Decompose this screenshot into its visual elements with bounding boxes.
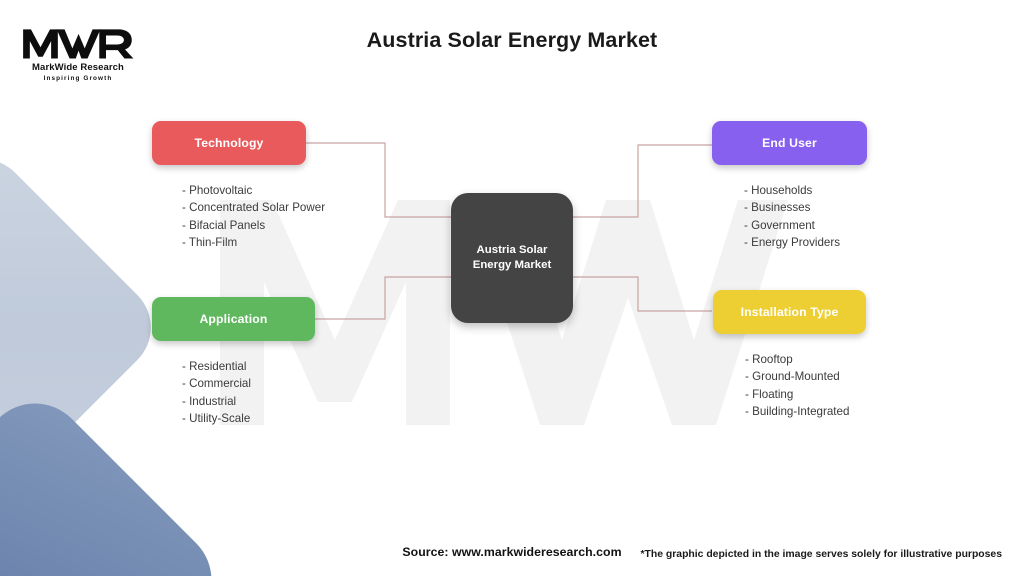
list-item: - Photovoltaic	[182, 182, 325, 199]
list-item: - Residential	[182, 358, 315, 375]
list-item: - Utility-Scale	[182, 410, 315, 427]
segment-application-items: - Residential - Commercial - Industrial …	[152, 358, 315, 428]
list-item: - Businesses	[744, 199, 867, 216]
segment-technology[interactable]: Technology - Photovoltaic - Concentrated…	[152, 121, 325, 252]
segment-end-user-items: - Households - Businesses - Government -…	[712, 182, 867, 252]
list-item: - Building-Integrated	[745, 403, 866, 420]
list-item: - Energy Providers	[744, 234, 867, 251]
segment-installation-type-items: - Rooftop - Ground-Mounted - Floating - …	[713, 351, 866, 421]
center-node[interactable]: Austria Solar Energy Market	[451, 193, 573, 323]
segment-technology-header[interactable]: Technology	[152, 121, 306, 165]
list-item: - Government	[744, 217, 867, 234]
list-item: - Households	[744, 182, 867, 199]
list-item: - Industrial	[182, 393, 315, 410]
segment-application-header[interactable]: Application	[152, 297, 315, 341]
list-item: - Ground-Mounted	[745, 368, 866, 385]
segment-application[interactable]: Application - Residential - Commercial -…	[152, 297, 315, 428]
list-item: - Concentrated Solar Power	[182, 199, 325, 216]
list-item: - Thin-Film	[182, 234, 325, 251]
segment-technology-items: - Photovoltaic - Concentrated Solar Powe…	[152, 182, 325, 252]
segment-installation-type-header[interactable]: Installation Type	[713, 290, 866, 334]
list-item: - Floating	[745, 386, 866, 403]
segment-installation-type[interactable]: Installation Type - Rooftop - Ground-Mou…	[713, 290, 866, 421]
disclaimer-note: *The graphic depicted in the image serve…	[641, 549, 1002, 560]
list-item: - Rooftop	[745, 351, 866, 368]
segment-end-user[interactable]: End User - Households - Businesses - Gov…	[712, 121, 867, 252]
list-item: - Bifacial Panels	[182, 217, 325, 234]
list-item: - Commercial	[182, 375, 315, 392]
segment-end-user-header[interactable]: End User	[712, 121, 867, 165]
